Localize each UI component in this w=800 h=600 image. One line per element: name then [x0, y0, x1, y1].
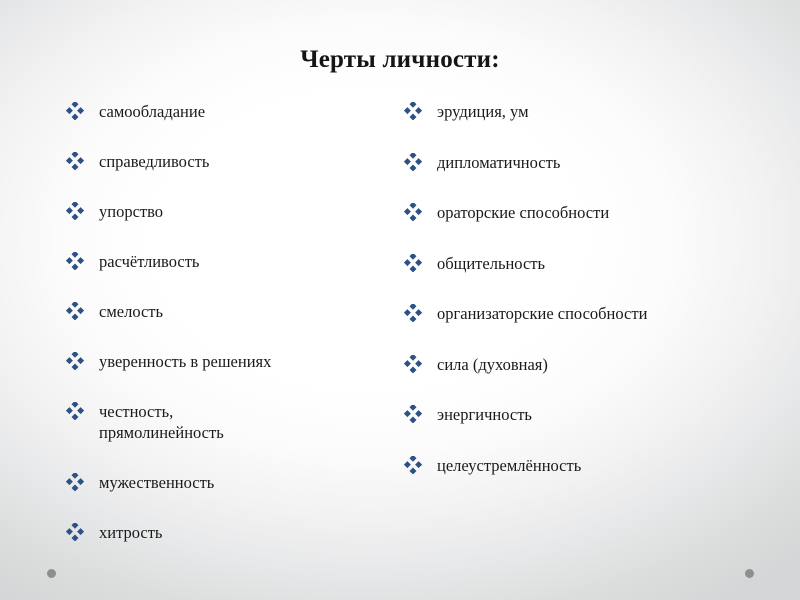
- list-item-label: дипломатичность: [437, 152, 760, 173]
- diamond-cluster-icon: [404, 203, 422, 221]
- list-item-label: мужественность: [99, 472, 382, 493]
- list-item-label: справедливость: [99, 151, 382, 172]
- list-item-label: сила (духовная): [437, 354, 760, 375]
- list-item: мужественность: [62, 472, 382, 493]
- list-item: целеустремлённость: [400, 455, 760, 476]
- list-item-label: упорство: [99, 201, 382, 222]
- list-item: энергичность: [400, 404, 760, 425]
- list-item: общительность: [400, 253, 760, 274]
- list-item: ораторские способности: [400, 202, 760, 223]
- list-item: расчётливость: [62, 251, 382, 272]
- slide-canvas: Черты личности: самообладаниесправедливо…: [0, 0, 800, 600]
- list-item-label: уверенность в решениях: [99, 351, 382, 372]
- bullet-column-left: самообладаниесправедливостьупорстворасчё…: [62, 101, 382, 572]
- list-item-label: целеустремлённость: [437, 455, 760, 476]
- diamond-cluster-icon: [66, 352, 84, 370]
- list-item: смелость: [62, 301, 382, 322]
- diamond-cluster-icon: [404, 456, 422, 474]
- list-item: организаторские способности: [400, 303, 760, 324]
- list-item-label: энергичность: [437, 404, 760, 425]
- diamond-cluster-icon: [404, 254, 422, 272]
- diamond-cluster-icon: [66, 523, 84, 541]
- diamond-cluster-icon: [66, 402, 84, 420]
- diamond-cluster-icon: [66, 252, 84, 270]
- list-item-label: честность, прямолинейность: [99, 401, 382, 443]
- list-item: хитрость: [62, 522, 382, 543]
- diamond-cluster-icon: [404, 304, 422, 322]
- list-item: сила (духовная): [400, 354, 760, 375]
- decorative-dot-left: [47, 569, 56, 578]
- diamond-cluster-icon: [404, 153, 422, 171]
- list-item: упорство: [62, 201, 382, 222]
- list-item-label: хитрость: [99, 522, 382, 543]
- list-item-label: эрудиция, ум: [437, 101, 760, 122]
- diamond-cluster-icon: [66, 102, 84, 120]
- list-item: уверенность в решениях: [62, 351, 382, 372]
- list-item-label: ораторские способности: [437, 202, 760, 223]
- list-item-label: организаторские способности: [437, 303, 760, 324]
- diamond-cluster-icon: [404, 102, 422, 120]
- list-item-label: расчётливость: [99, 251, 382, 272]
- diamond-cluster-icon: [66, 202, 84, 220]
- list-item: справедливость: [62, 151, 382, 172]
- list-item-label: смелость: [99, 301, 382, 322]
- list-item-label: общительность: [437, 253, 760, 274]
- page-title: Черты личности:: [0, 44, 800, 76]
- list-item: эрудиция, ум: [400, 101, 760, 122]
- diamond-cluster-icon: [66, 473, 84, 491]
- diamond-cluster-icon: [66, 152, 84, 170]
- list-item: самообладание: [62, 101, 382, 122]
- list-item: дипломатичность: [400, 152, 760, 173]
- list-item: честность, прямолинейность: [62, 401, 382, 443]
- list-item-label: самообладание: [99, 101, 382, 122]
- diamond-cluster-icon: [404, 405, 422, 423]
- diamond-cluster-icon: [404, 355, 422, 373]
- diamond-cluster-icon: [66, 302, 84, 320]
- decorative-dot-right: [745, 569, 754, 578]
- bullet-column-right: эрудиция, умдипломатичностьораторские сп…: [400, 101, 760, 505]
